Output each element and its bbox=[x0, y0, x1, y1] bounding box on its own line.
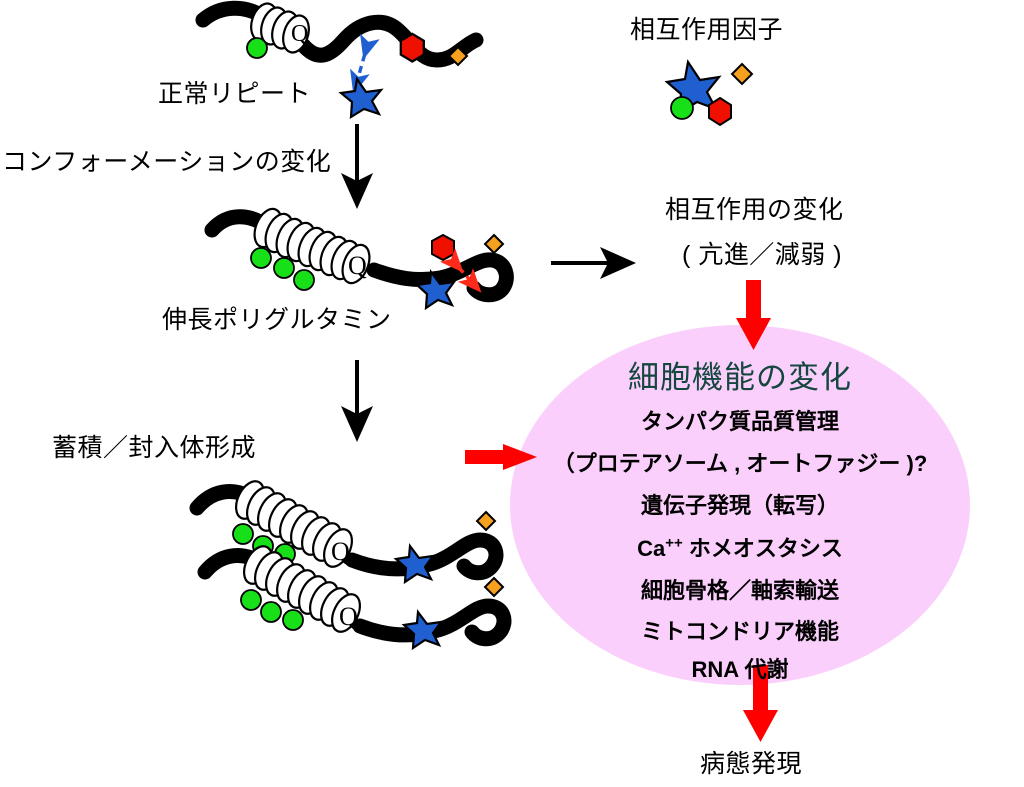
circle-icon bbox=[233, 524, 253, 544]
hexagon-icon bbox=[709, 98, 731, 125]
diamond-icon bbox=[477, 512, 495, 530]
circle-icon bbox=[251, 248, 271, 268]
ellipse-item-4: 細胞骨格／軸索輸送 bbox=[510, 573, 970, 605]
star-icon bbox=[417, 272, 454, 308]
binding-interaction-dashed-arrow bbox=[358, 43, 368, 78]
diamond-icon bbox=[732, 64, 752, 84]
protein-backbone-left bbox=[203, 8, 262, 20]
diamond-icon bbox=[485, 578, 503, 596]
ellipse-item-1: （プロテアソーム , オートファジー )? bbox=[510, 446, 970, 478]
ellipse-item-3-tail: ホメオスタシス bbox=[683, 536, 843, 561]
circle-icon bbox=[671, 97, 693, 119]
circle-icon bbox=[275, 544, 295, 564]
label-interaction-change-sub: ( 亢進／減弱 ) bbox=[682, 243, 842, 268]
hexagon-icon bbox=[432, 235, 454, 260]
star-icon bbox=[341, 79, 381, 117]
glutamine-label: Q bbox=[348, 251, 367, 280]
ellipse-item-5: ミトコンドリア機能 bbox=[510, 614, 970, 646]
diamond-icon bbox=[449, 47, 467, 65]
protein-backbone-right bbox=[360, 606, 504, 639]
altered-interaction-dashed-arrow bbox=[452, 260, 470, 280]
ellipse-item-6: RNA 代謝 bbox=[510, 652, 970, 684]
diamond-icon bbox=[485, 235, 503, 253]
glutamine-label: Q bbox=[339, 602, 358, 631]
label-pathogenesis: 病態発現 bbox=[700, 752, 802, 777]
circle-icon bbox=[294, 270, 314, 290]
circle-icon bbox=[261, 602, 281, 622]
label-accumulation-inclusion: 蓄積／封入体形成 bbox=[52, 436, 256, 461]
ellipse-item-3-sup: ++ bbox=[665, 535, 682, 552]
glutamine-helix bbox=[238, 542, 365, 636]
label-expanded-polyglutamine: 伸長ポリグルタミン bbox=[162, 308, 392, 333]
hexagon-icon bbox=[401, 34, 424, 62]
interacting-factors-legend bbox=[667, 62, 752, 125]
protein-backbone-right bbox=[374, 260, 506, 295]
circle-icon bbox=[247, 38, 267, 58]
label-normal-repeat: 正常リピート bbox=[158, 82, 311, 107]
star-icon bbox=[396, 546, 433, 582]
circle-icon bbox=[283, 610, 303, 630]
glutamine-helix bbox=[249, 205, 374, 287]
ellipse-item-0: タンパク質品質管理 bbox=[510, 404, 970, 436]
star-icon bbox=[667, 62, 719, 113]
glutamine-label: Q bbox=[331, 537, 350, 566]
circle-icon bbox=[241, 590, 261, 610]
circle-icon bbox=[253, 536, 273, 556]
ellipse-item-2: 遺伝子発現（転写） bbox=[510, 488, 970, 520]
protein-backbone-left bbox=[197, 492, 248, 508]
ellipse-item-3-base: Ca bbox=[637, 536, 665, 561]
star-icon bbox=[404, 612, 441, 648]
glutamine-helix bbox=[247, 0, 314, 56]
glutamine-helix bbox=[230, 477, 357, 571]
inclusion-body-aggregate: Q Q bbox=[197, 477, 504, 648]
glutamine-label: Q bbox=[291, 21, 308, 47]
protein-backbone-left bbox=[205, 556, 256, 572]
expanded-polyq-protein: Q bbox=[212, 205, 506, 308]
circle-icon bbox=[274, 258, 294, 278]
cell-function-title: 細胞機能の変化 bbox=[510, 352, 970, 397]
protein-backbone-right bbox=[303, 22, 476, 60]
protein-backbone-right bbox=[352, 540, 496, 573]
polyglutamine-pathogenesis-diagram: Q bbox=[0, 0, 1024, 787]
protein-backbone-left bbox=[212, 217, 266, 230]
label-conformation-change: コンフォーメーションの変化 bbox=[2, 150, 331, 175]
label-interacting-factors: 相互作用因子 bbox=[630, 18, 783, 43]
label-interaction-change: 相互作用の変化 bbox=[665, 198, 844, 223]
ellipse-item-3: Ca++ ホメオスタシス bbox=[510, 531, 970, 563]
